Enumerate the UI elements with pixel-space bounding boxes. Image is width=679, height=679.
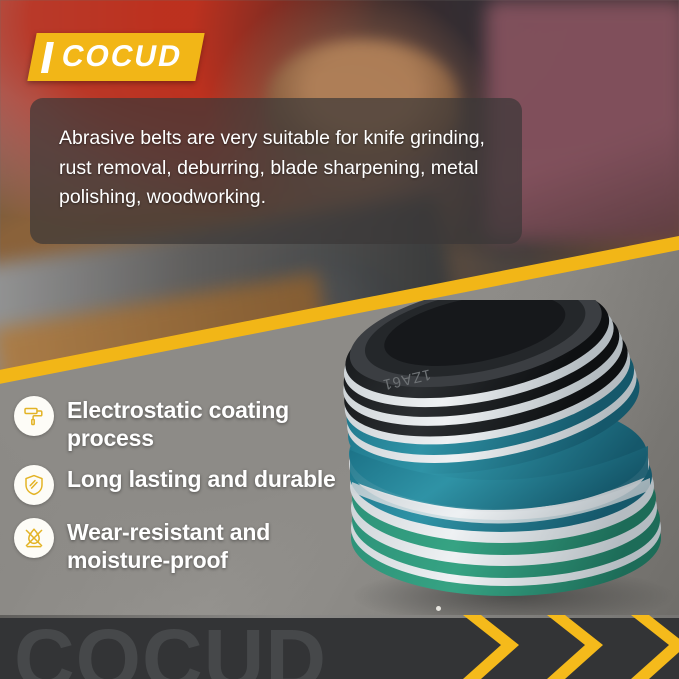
brand-name: COCUD xyxy=(59,42,185,72)
chevron-right-icon xyxy=(457,615,519,679)
description-panel: Abrasive belts are very suitable for kni… xyxy=(30,98,522,244)
feature-item-long-lasting: Long lasting and durable xyxy=(14,465,344,505)
shield-icon xyxy=(14,465,54,505)
chevron-right-icon xyxy=(541,615,603,679)
bottom-brand-bar: COCUD xyxy=(0,615,679,679)
feature-label: Electrostatic coating process xyxy=(67,396,344,452)
no-moisture-icon xyxy=(14,518,54,558)
product-marketing-image: COCUD Abrasive belts are very suitable f… xyxy=(0,0,679,679)
product-image-sanding-belts: 1ZA61 xyxy=(318,300,679,630)
logo-slash-icon xyxy=(41,42,54,73)
brand-logo: COCUD xyxy=(27,33,204,81)
feature-item-wear-resistant: Wear-resistant and moisture-proof xyxy=(14,518,344,574)
description-text: Abrasive belts are very suitable for kni… xyxy=(59,124,496,213)
highlight-dot xyxy=(436,606,441,611)
chevron-group xyxy=(457,615,679,679)
feature-item-electrostatic-coating: Electrostatic coating process xyxy=(14,396,344,452)
feature-list: Electrostatic coating process Long lasti… xyxy=(14,396,344,574)
feature-label: Wear-resistant and moisture-proof xyxy=(67,518,344,574)
feature-label: Long lasting and durable xyxy=(67,465,336,494)
paint-roller-icon xyxy=(14,396,54,436)
chevron-right-icon xyxy=(625,615,679,679)
bottom-watermark: COCUD xyxy=(14,623,327,679)
